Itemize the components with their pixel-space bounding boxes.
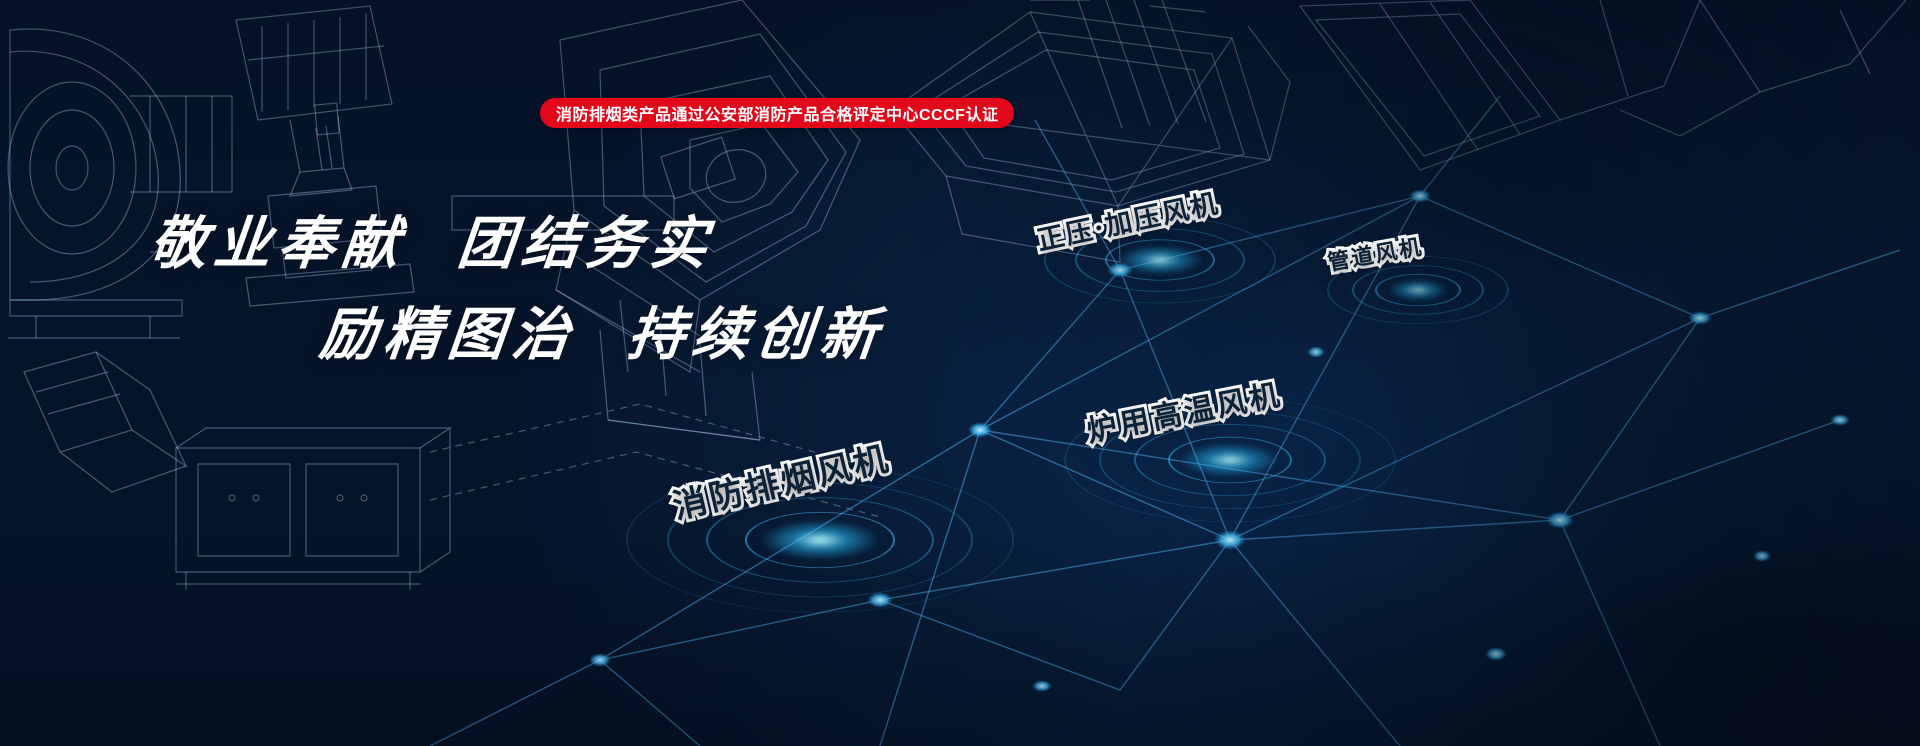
product-label-smoke-exhaust-fan: 消防排烟风机 (667, 431, 894, 529)
support-frame-blueprint (1300, 0, 1906, 170)
hub-core (1388, 279, 1448, 301)
slogan-text-striving: 励精图治 (317, 306, 579, 363)
certification-badge: 消防排烟类产品通过公安部消防产品合格评定中心CCCF认证 (540, 98, 1014, 128)
slogan-text-dedication: 敬业奉献 (147, 215, 409, 272)
slogan-line-1: 敬业奉献 团结务实 (147, 215, 887, 272)
slogan-text-unity: 团结务实 (455, 215, 717, 272)
slogan-line-2: 励精图治 持续创新 (317, 306, 887, 363)
hub-core (1117, 245, 1203, 275)
hub-ring-1 (745, 512, 895, 568)
product-label-furnace-high-temp-fan: 炉用高温风机 (1083, 370, 1286, 451)
hub-core (1180, 443, 1280, 477)
slogan-block: 敬业奉献 团结务实 励精图治 持续创新 (150, 215, 884, 363)
hub-ring-1 (1105, 239, 1215, 280)
rails-blueprint (1078, 0, 1206, 128)
hub-core (760, 520, 880, 560)
hub-ring-2 (1352, 265, 1484, 314)
hub-ring-1 (1375, 274, 1461, 306)
hero-banner: 正压·加压风机 管道风机 炉用高温风机 消防排烟风机 敬业奉献 团结务实 励精图… (0, 0, 1920, 746)
product-label-duct-fan: 管道风机 (1325, 229, 1425, 277)
silencer-blueprint (24, 352, 186, 492)
product-label-pressure-fan: 正压·加压风机 (1033, 181, 1222, 258)
air-handling-unit-blueprint (176, 428, 450, 590)
hub-ring-1 (1168, 437, 1292, 483)
slogan-text-innovation: 持续创新 (625, 306, 887, 363)
